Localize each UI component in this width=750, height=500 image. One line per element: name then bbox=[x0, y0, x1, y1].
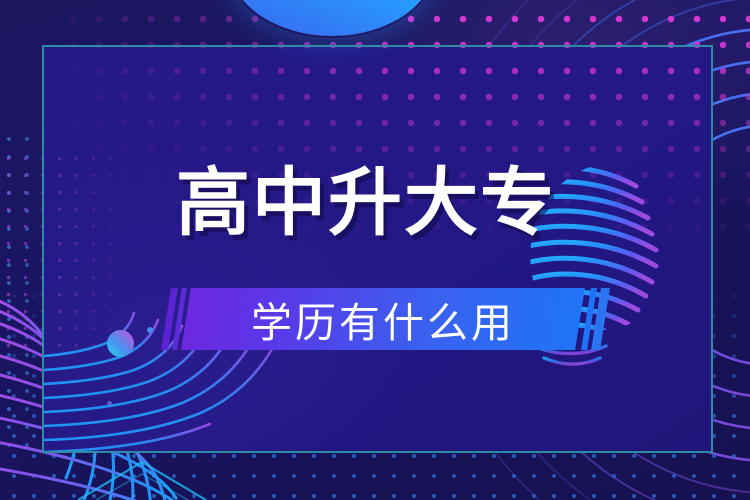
poster-canvas: 高中升大专 学历有什么用 bbox=[0, 0, 750, 500]
subtitle: 学历有什么用 bbox=[251, 289, 515, 349]
page-title: 高中升大专 bbox=[176, 166, 596, 240]
title-block: 高中升大专 学历有什么用 bbox=[0, 0, 750, 500]
subtitle-text-wrapper: 学历有什么用 bbox=[181, 288, 585, 350]
